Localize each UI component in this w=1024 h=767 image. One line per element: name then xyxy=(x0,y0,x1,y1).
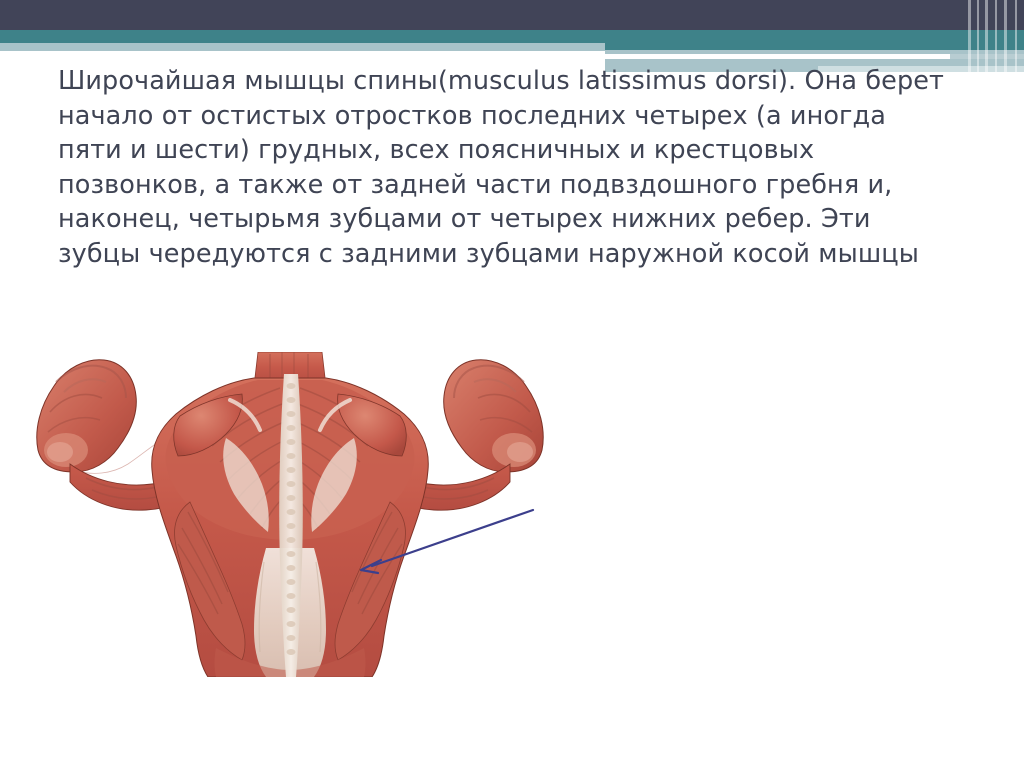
back-muscles-svg xyxy=(30,352,550,677)
header-decoration xyxy=(0,0,1024,72)
header-teal-band-right xyxy=(605,43,1024,50)
body-paragraph: Широчайшая мышцы спины(musculus latissim… xyxy=(58,64,958,271)
header-dark-band xyxy=(0,0,1024,30)
header-pale-band-left xyxy=(0,43,605,51)
slide-root: Широчайшая мышцы спины(musculus latissim… xyxy=(0,0,1024,767)
torso-back-group xyxy=(152,374,429,677)
anatomy-illustration xyxy=(30,352,550,677)
header-teal-band xyxy=(0,30,1024,43)
header-vertical-stripes xyxy=(964,0,1024,72)
